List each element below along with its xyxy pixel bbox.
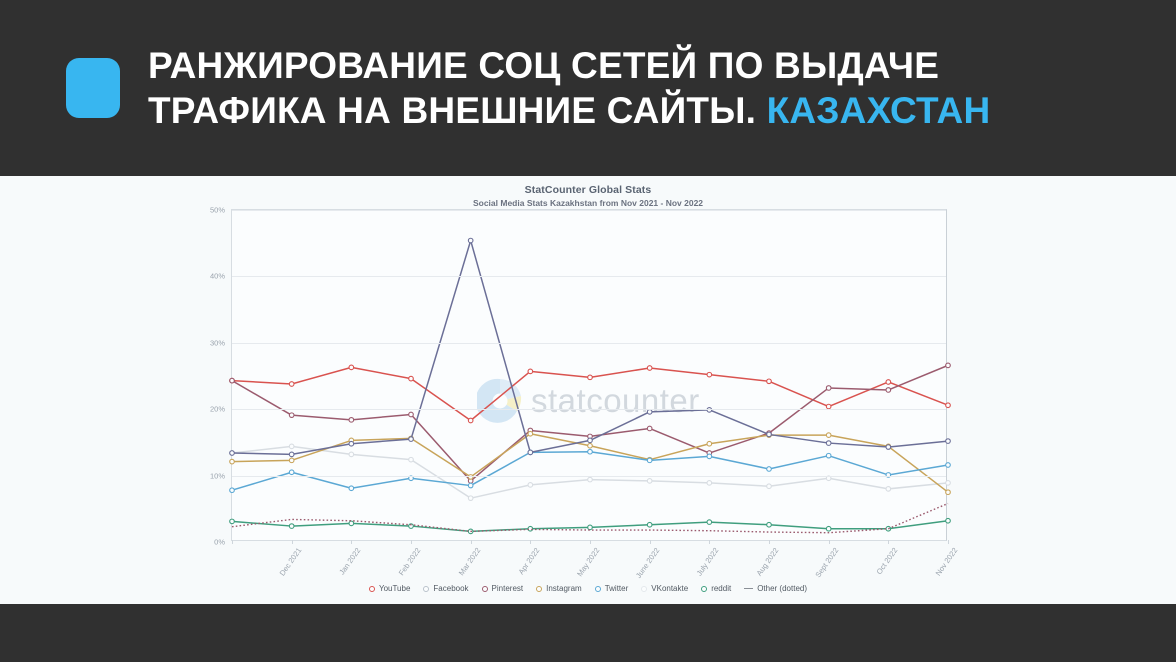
x-axis-tick (769, 540, 770, 544)
series-point (647, 366, 652, 371)
series-point (588, 449, 593, 454)
series-point (289, 458, 294, 463)
x-axis-tick-label: Dec 2021 (277, 546, 303, 577)
series-point (946, 518, 951, 523)
series-point (946, 481, 951, 486)
series-point (946, 403, 951, 408)
series-point (409, 476, 414, 481)
slide-footer (0, 604, 1176, 662)
chart-plot-area: statcounter 0%10%20%30%40%50%Dec 2021Jan… (231, 209, 947, 541)
chart-panel: StatCounter Global Stats Social Media St… (0, 176, 1176, 604)
page-title: Ранжирование соц сетей по выдаче трафика… (148, 43, 990, 133)
series-point (349, 521, 354, 526)
chart-series-lines (232, 210, 948, 542)
x-axis-tick-label: Mar 2022 (456, 546, 482, 577)
series-point (468, 238, 473, 243)
chart-subtitle: Social Media Stats Kazakhstan from Nov 2… (0, 198, 1176, 208)
legend-label: Pinterest (492, 584, 524, 593)
series-point (349, 418, 354, 423)
accent-square-icon (66, 58, 120, 118)
x-axis-tick (351, 540, 352, 544)
x-axis-tick-label: Aug 2022 (755, 546, 781, 577)
series-point (767, 379, 772, 384)
series-point (707, 520, 712, 525)
series-point (230, 378, 235, 383)
series-point (349, 365, 354, 370)
x-axis-tick (888, 540, 889, 544)
page-title-highlight: Казахстан (767, 90, 991, 131)
legend-item-vkontakte[interactable]: VKontakte (641, 584, 688, 593)
series-point (826, 476, 831, 481)
series-point (588, 477, 593, 482)
series-point (409, 376, 414, 381)
slide-header: Ранжирование соц сетей по выдаче трафика… (0, 0, 1176, 176)
series-point (826, 404, 831, 409)
gridline (232, 343, 946, 344)
legend-circle-icon (595, 586, 601, 592)
series-point (289, 382, 294, 387)
series-point (409, 412, 414, 417)
series-point (946, 363, 951, 368)
gridline (232, 409, 946, 410)
x-axis-tick (232, 540, 233, 544)
legend-circle-icon (536, 586, 542, 592)
series-point (647, 479, 652, 484)
series-point (707, 454, 712, 459)
series-point (647, 458, 652, 463)
x-axis-tick-label: Sept 2022 (813, 546, 840, 579)
x-axis-tick-label: July 2022 (695, 546, 721, 577)
series-line-pinterest (232, 365, 948, 481)
series-point (946, 490, 951, 495)
gridline (232, 210, 946, 211)
series-point (707, 372, 712, 377)
x-axis-tick-label: Jan 2022 (338, 546, 363, 576)
series-point (826, 526, 831, 531)
legend-circle-icon (369, 586, 375, 592)
series-point (767, 484, 772, 489)
series-point (289, 444, 294, 449)
series-point (767, 432, 772, 437)
series-point (289, 524, 294, 529)
legend-label: YouTube (379, 584, 410, 593)
legend-label: VKontakte (651, 584, 688, 593)
page-title-line1: Ранжирование соц сетей по выдаче (148, 45, 939, 86)
gridline (232, 276, 946, 277)
series-point (230, 451, 235, 456)
series-point (886, 445, 891, 450)
x-axis-tick (530, 540, 531, 544)
x-axis-tick-label: Apr 2022 (517, 546, 542, 576)
series-point (409, 437, 414, 442)
series-point (588, 443, 593, 448)
y-axis-tick-label: 40% (210, 272, 225, 281)
series-point (528, 431, 533, 436)
y-axis-tick-label: 30% (210, 338, 225, 347)
x-axis-tick (709, 540, 710, 544)
series-line-twitter (232, 452, 948, 491)
series-point (826, 433, 831, 438)
series-point (289, 452, 294, 457)
series-point (826, 386, 831, 391)
x-axis-tick-label: May 2022 (575, 546, 601, 578)
series-point (528, 450, 533, 455)
legend-circle-icon (701, 586, 707, 592)
series-point (349, 441, 354, 446)
series-point (468, 483, 473, 488)
x-axis-tick (590, 540, 591, 544)
series-point (767, 467, 772, 472)
series-point (528, 483, 533, 488)
series-point (647, 426, 652, 431)
series-point (230, 488, 235, 493)
series-point (289, 413, 294, 418)
x-axis-tick-label: Feb 2022 (397, 546, 423, 577)
legend-dash-icon (744, 588, 753, 590)
gridline (232, 476, 946, 477)
legend-item-twitter[interactable]: Twitter (595, 584, 629, 593)
series-point (349, 452, 354, 457)
series-point (826, 441, 831, 446)
series-point (588, 375, 593, 380)
x-axis-tick (292, 540, 293, 544)
x-axis-tick (411, 540, 412, 544)
series-point (409, 457, 414, 462)
series-point (886, 388, 891, 393)
x-axis-tick-label: Oct 2022 (875, 546, 900, 576)
series-point (588, 525, 593, 530)
series-point (767, 522, 772, 527)
series-point (468, 496, 473, 501)
x-axis-tick-label: Nov 2022 (934, 546, 960, 577)
series-point (349, 486, 354, 491)
legend-item-youtube[interactable]: YouTube (369, 584, 410, 593)
x-axis-tick (948, 540, 949, 544)
y-axis-tick-label: 0% (214, 538, 225, 547)
legend-label: reddit (711, 584, 731, 593)
legend-item-facebook[interactable]: Facebook (423, 584, 468, 593)
x-axis-tick-label: June 2022 (634, 546, 661, 580)
legend-label: Facebook (433, 584, 468, 593)
series-point (230, 519, 235, 524)
series-point (707, 481, 712, 486)
series-point (647, 522, 652, 527)
legend-item-instagram[interactable]: Instagram (536, 584, 582, 593)
series-point (946, 463, 951, 468)
x-axis-tick (471, 540, 472, 544)
series-point (826, 453, 831, 458)
series-point (886, 487, 891, 492)
slide-root: Ранжирование соц сетей по выдаче трафика… (0, 0, 1176, 662)
series-line-vkontakte (232, 241, 948, 455)
legend-label: Twitter (605, 584, 629, 593)
series-point (230, 459, 235, 464)
series-point (647, 410, 652, 415)
series-point (468, 418, 473, 423)
series-point (707, 441, 712, 446)
series-point (588, 438, 593, 443)
x-axis-tick (650, 540, 651, 544)
series-point (528, 369, 533, 374)
y-axis-tick-label: 50% (210, 206, 225, 215)
chart-legend: YouTubeFacebookPinterestInstagramTwitter… (0, 584, 1176, 593)
legend-circle-icon (482, 586, 488, 592)
series-point (289, 470, 294, 475)
y-axis-tick-label: 10% (210, 471, 225, 480)
series-point (946, 439, 951, 444)
x-axis-tick (829, 540, 830, 544)
legend-label: Other (dotted) (757, 584, 807, 593)
chart-title: StatCounter Global Stats (0, 184, 1176, 196)
y-axis-tick-label: 20% (210, 405, 225, 414)
legend-label: Instagram (546, 584, 582, 593)
page-title-line2: трафика на внешние сайты. (148, 90, 756, 131)
series-point (886, 380, 891, 385)
legend-circle-icon (641, 586, 647, 592)
legend-circle-icon (423, 586, 429, 592)
legend-item-reddit[interactable]: reddit (701, 584, 731, 593)
legend-item-other-dotted[interactable]: Other (dotted) (744, 584, 807, 593)
legend-item-pinterest[interactable]: Pinterest (482, 584, 524, 593)
